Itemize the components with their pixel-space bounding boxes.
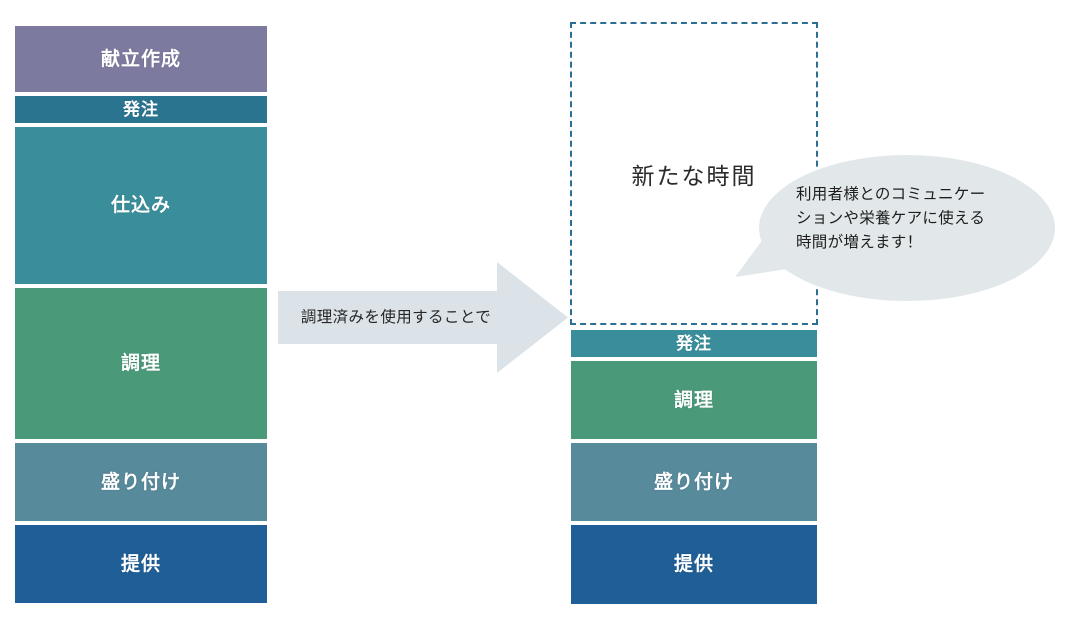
before-process-column: 献立作成 発注 仕込み 調理 盛り付け 提供 bbox=[14, 0, 268, 627]
arrow-label: 調理済みを使用することで bbox=[286, 305, 506, 327]
process-block-label: 調理 bbox=[121, 354, 161, 373]
process-block-chouri-after: 調理 bbox=[570, 360, 818, 440]
process-block-label: 提供 bbox=[674, 555, 714, 574]
speech-bubble-line-2: ションや栄養ケアに使える bbox=[796, 207, 1018, 231]
process-block-chouri: 調理 bbox=[14, 287, 268, 440]
speech-bubble-line-1: 利用者様とのコミュニケー bbox=[796, 183, 1018, 207]
diagram-canvas: 献立作成 発注 仕込み 調理 盛り付け 提供 調理済みを使用することで 新たな時… bbox=[0, 0, 1070, 627]
process-block-hatchu-after: 発注 bbox=[570, 329, 818, 358]
process-block-moritsuke: 盛り付け bbox=[14, 442, 268, 522]
process-block-label: 献立作成 bbox=[101, 50, 181, 69]
process-block-hatchu: 発注 bbox=[14, 95, 268, 124]
process-block-moritsuke-after: 盛り付け bbox=[570, 442, 818, 522]
process-block-label: 盛り付け bbox=[654, 473, 734, 492]
after-process-column: 発注 調理 盛り付け 提供 bbox=[570, 0, 818, 627]
process-block-teikyou-after: 提供 bbox=[570, 524, 818, 605]
process-block-shikomi: 仕込み bbox=[14, 126, 268, 285]
process-block-label: 盛り付け bbox=[101, 473, 181, 492]
speech-bubble-text: 利用者様とのコミュニケー ションや栄養ケアに使える 時間が増えます！ bbox=[796, 183, 1018, 255]
process-block-label: 調理 bbox=[674, 391, 714, 410]
process-block-label: 仕込み bbox=[111, 196, 171, 215]
speech-bubble-line-3: 時間が増えます！ bbox=[796, 231, 1018, 255]
process-block-label: 発注 bbox=[123, 101, 159, 118]
process-block-kondate-sakusei: 献立作成 bbox=[14, 25, 268, 93]
process-block-label: 提供 bbox=[121, 555, 161, 574]
process-block-label: 発注 bbox=[676, 335, 712, 352]
process-block-teikyou: 提供 bbox=[14, 524, 268, 604]
